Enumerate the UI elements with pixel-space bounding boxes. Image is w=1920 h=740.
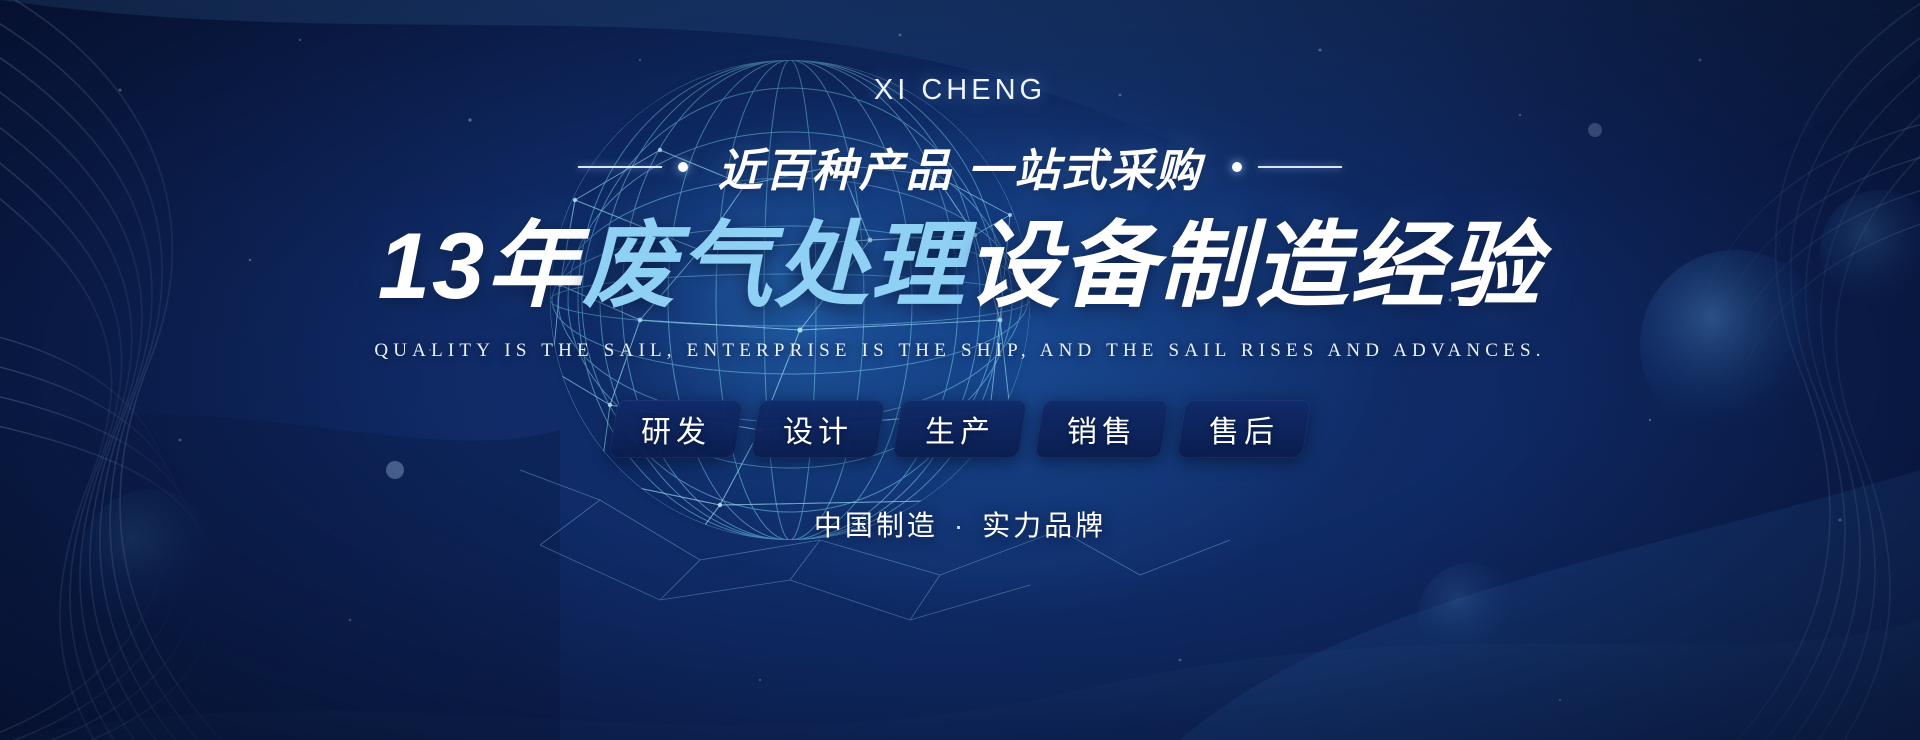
decoration-dot [678,162,688,172]
chip-after-sales[interactable]: 售后 [1176,400,1311,458]
footer-separator-dot: · [954,510,966,541]
chip-label: 设计 [783,407,853,451]
hero-banner: XI CHENG 近百种产品 一站式采购 13年废气处理设备制造经验 QUALI… [0,0,1920,740]
headline-rest: 设备制造经验 [966,213,1542,318]
footer-slogan: 中国制造·实力品牌 [814,504,1106,544]
chip-rd[interactable]: 研发 [608,400,743,458]
footer-left-text: 中国制造 [814,510,938,541]
chip-sales[interactable]: 销售 [1034,400,1169,458]
chip-production[interactable]: 生产 [892,400,1027,458]
subheadline-text: 近百种产品 一站式采购 [718,134,1203,199]
banner-content: XI CHENG 近百种产品 一站式采购 13年废气处理设备制造经验 QUALI… [0,0,1920,740]
chip-label: 销售 [1067,407,1137,451]
english-tagline: QUALITY IS THE SAIL, ENTERPRISE IS THE S… [374,340,1545,362]
decoration-line [1258,166,1342,168]
left-decoration [578,162,688,172]
chip-design[interactable]: 设计 [750,400,885,458]
subheadline-row: 近百种产品 一站式采购 [578,134,1343,199]
chip-label: 研发 [641,407,711,451]
decoration-line [578,166,662,168]
main-headline: 13年废气处理设备制造经验 [378,213,1543,318]
footer-right-text: 实力品牌 [982,510,1106,541]
chip-label: 售后 [1209,407,1279,451]
headline-years: 13年 [378,213,583,318]
headline-highlight: 废气处理 [582,213,966,318]
brand-name-en: XI CHENG [874,74,1046,107]
decoration-dot [1232,162,1242,172]
service-chip-list: 研发 设计 生产 销售 售后 [613,400,1307,458]
right-decoration [1232,162,1342,172]
chip-label: 生产 [925,407,995,451]
